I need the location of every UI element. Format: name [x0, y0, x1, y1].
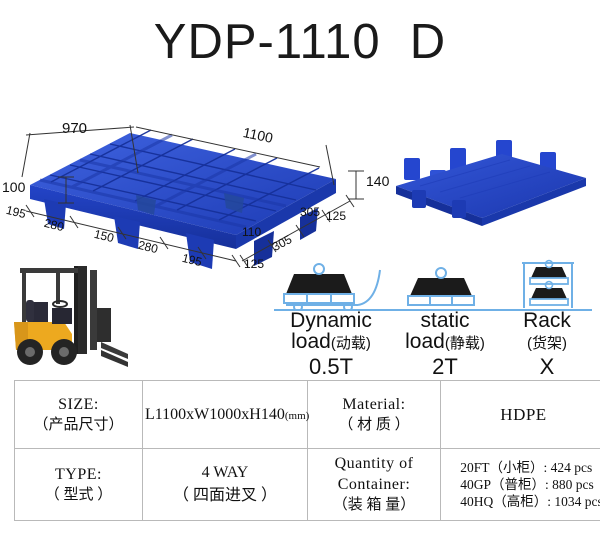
- dim-right-1: 125: [244, 257, 264, 271]
- load-rack: Rack (货架) X: [500, 258, 594, 379]
- load-static-cn: (静载): [445, 335, 485, 352]
- pallet-underside-view: [390, 130, 590, 240]
- load-dynamic-line2: load(动载): [272, 331, 390, 354]
- load-capacity-group: Dynamic load(动载) 0.5T static load(静载) 2T: [272, 258, 594, 376]
- product-spec-sheet: YDP-1110 D: [0, 0, 600, 539]
- load-static-line2: load(静载): [390, 331, 500, 354]
- cell-container-value: 20FT（小柜）: 424 pcs 40GP（普柜）: 880 pcs 40HQ…: [441, 449, 600, 521]
- container-qty-20ft: 20FT（小柜）: 424 pcs: [444, 459, 600, 476]
- load-dynamic-en: load: [291, 330, 331, 353]
- container-label-en1: Quantity of: [310, 453, 438, 474]
- container-label-cn: （装 箱 量）: [310, 495, 438, 516]
- dim-right-5: 125: [326, 209, 346, 223]
- page-title: YDP-1110 D: [0, 14, 600, 70]
- cell-type-label: TYPE: （ 型式 ）: [15, 449, 143, 521]
- dim-foot-height-100: 100: [2, 179, 25, 195]
- pallet-truck-icon: [272, 258, 390, 310]
- load-dynamic-value: 0.5T: [272, 355, 390, 379]
- pallet-stack-icon: [390, 258, 500, 310]
- load-static-line1: static: [390, 310, 500, 331]
- type-value-cn: （ 四面进叉 ）: [145, 484, 305, 507]
- size-unit: (mm): [285, 410, 309, 422]
- pallet-diagram: 970 1100 100 140 195 280 150 280 195 125…: [0, 105, 600, 280]
- cell-size-label: SIZE: （产品尺寸）: [15, 381, 143, 449]
- dim-right-4: 305: [300, 205, 320, 219]
- size-label-cn: （产品尺寸）: [17, 415, 140, 436]
- load-rack-line2: (货架): [500, 331, 594, 354]
- material-label-cn: （ 材 质 ）: [310, 415, 438, 436]
- container-label-en2: Container:: [310, 474, 438, 495]
- size-value: L1100xW1000xH140: [145, 406, 285, 423]
- load-dynamic-cn: (动载): [331, 335, 371, 352]
- dim-right-3: 110: [242, 225, 261, 239]
- table-row-type: TYPE: （ 型式 ） 4 WAY （ 四面进叉 ） Quantity of …: [15, 449, 600, 521]
- load-static: static load(静载) 2T: [390, 258, 500, 379]
- load-static-en: load: [405, 330, 445, 353]
- load-rack-value: X: [500, 355, 594, 379]
- dim-width-970: 970: [62, 120, 87, 137]
- load-dynamic: Dynamic load(动载) 0.5T: [272, 258, 390, 379]
- dim-total-height-140: 140: [366, 173, 389, 189]
- material-label-en: Material:: [310, 394, 438, 415]
- material-value: HDPE: [500, 405, 546, 424]
- load-dynamic-line1: Dynamic: [272, 310, 390, 331]
- container-qty-40gp: 40GP（普柜）: 880 pcs: [444, 476, 600, 493]
- forklift-photo: [6, 256, 132, 374]
- load-rack-cn: (货架): [527, 335, 567, 352]
- cell-type-value: 4 WAY （ 四面进叉 ）: [143, 449, 308, 521]
- spec-table: SIZE: （产品尺寸） L1100xW1000xH140(mm) Materi…: [14, 380, 600, 521]
- load-rack-line1: Rack: [500, 310, 594, 331]
- cell-material-label: Material: （ 材 质 ）: [308, 381, 441, 449]
- load-static-value: 2T: [390, 355, 500, 379]
- table-row-size: SIZE: （产品尺寸） L1100xW1000xH140(mm) Materi…: [15, 381, 600, 449]
- cell-container-label: Quantity of Container: （装 箱 量）: [308, 449, 441, 521]
- cell-size-value: L1100xW1000xH140(mm): [143, 381, 308, 449]
- type-label-cn: （ 型式 ）: [17, 485, 140, 506]
- type-label-en: TYPE:: [17, 464, 140, 485]
- type-value-en: 4 WAY: [145, 462, 305, 484]
- cell-material-value: HDPE: [441, 381, 600, 449]
- container-qty-40hq: 40HQ（高柜）: 1034 pcs: [444, 493, 600, 510]
- size-label-en: SIZE:: [17, 394, 140, 415]
- rack-icon: [500, 258, 594, 310]
